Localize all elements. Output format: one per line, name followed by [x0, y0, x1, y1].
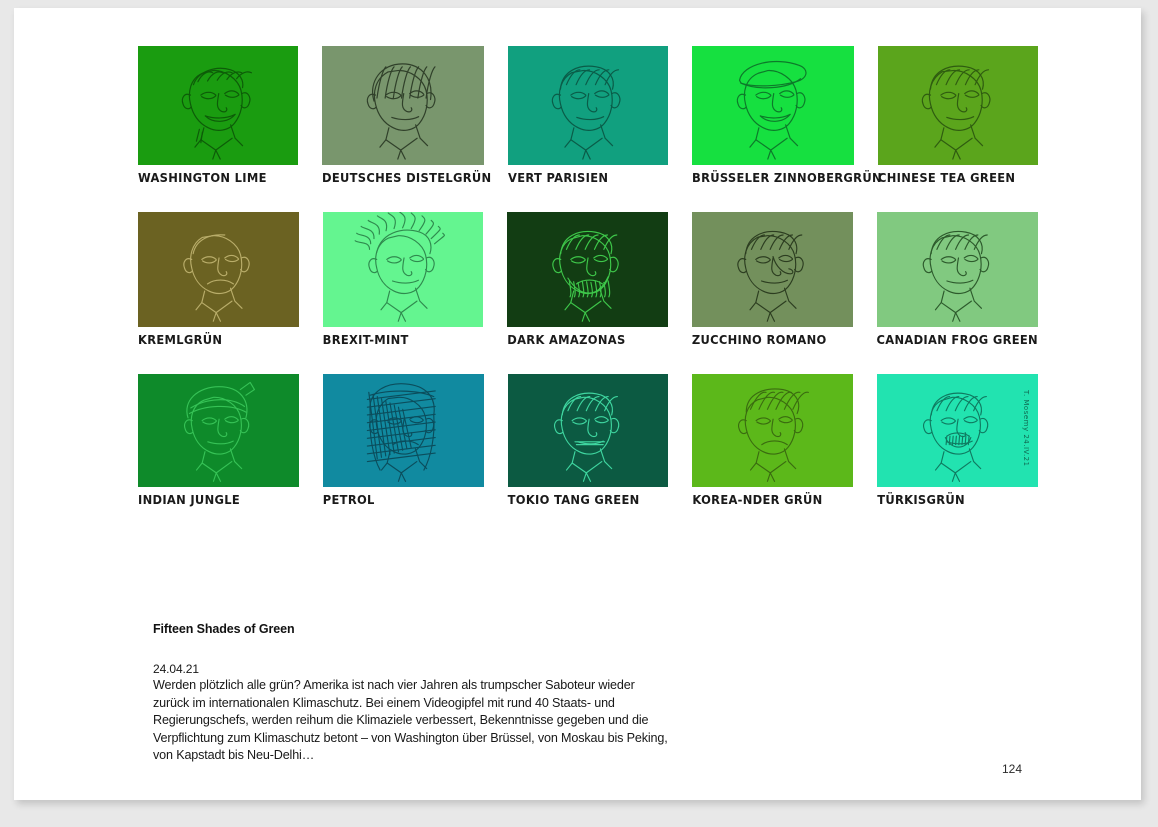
swatch-cell[interactable]: TOKIO TANG GREEN — [508, 374, 669, 506]
swatch-chip-messy-hair-man[interactable] — [323, 212, 484, 327]
swatch-label: BREXIT-MINT — [323, 332, 484, 347]
swatch-row: WASHINGTON LIMEDEUTSCHES DISTELGRÜNVERT … — [138, 46, 1038, 184]
swatch-label: CANADIAN FROG GREEN — [877, 332, 1038, 347]
swatch-row: INDIAN JUNGLEPETROLTOKIO TANG GREENKOREA… — [138, 374, 1038, 506]
swatch-label: ZUCCHINO ROMANO — [692, 332, 853, 347]
swatch-cell[interactable]: PETROL — [323, 374, 484, 506]
swatch-chip-keffiyeh-man[interactable] — [323, 374, 484, 487]
swatch-cell[interactable]: DEUTSCHES DISTELGRÜN — [322, 46, 484, 184]
swatch-chip-turban-man[interactable] — [138, 374, 299, 487]
swatch-cell[interactable]: KREMLGRÜN — [138, 212, 299, 346]
swatch-chip-elder-man[interactable] — [508, 374, 669, 487]
swatch-label: INDIAN JUNGLE — [138, 492, 299, 507]
swatch-chip-woman-bob-hair[interactable] — [322, 46, 484, 165]
swatch-label: VERT PARISIEN — [508, 170, 668, 185]
swatch-chip-wavy-hair-man[interactable] — [877, 212, 1038, 327]
swatch-cell[interactable]: BREXIT-MINT — [323, 212, 484, 346]
swatch-chip-bald-stern-man[interactable] — [138, 212, 299, 327]
screenshot-viewport: WASHINGTON LIMEDEUTSCHES DISTELGRÜNVERT … — [0, 0, 1158, 827]
swatch-label: KREMLGRÜN — [138, 332, 299, 347]
swatch-cell[interactable]: CANADIAN FROG GREEN — [877, 212, 1038, 346]
swatch-cell[interactable]: DARK AMAZONAS — [507, 212, 668, 346]
caption-body: Werden plötzlich alle grün? Amerika ist … — [153, 677, 673, 765]
swatch-label: KOREA-NDER GRÜN — [692, 492, 853, 507]
caption-block: Fifteen Shades of Green 24.04.21 Werden … — [153, 622, 683, 765]
swatch-chip-round-face-man[interactable] — [878, 46, 1038, 165]
swatch-cell[interactable]: T. Mosemy 24.IV.21TÜRKISGRÜN — [877, 374, 1038, 506]
caption-date: 24.04.21 — [153, 662, 683, 676]
swatch-label: DEUTSCHES DISTELGRÜN — [322, 170, 484, 185]
swatch-chip-smiling-man-swept-hair[interactable] — [138, 46, 298, 165]
swatch-chip-long-nose-man[interactable] — [692, 212, 853, 327]
swatch-chip-man-slicked-back-hair[interactable] — [508, 46, 668, 165]
swatch-cell[interactable]: BRÜSSELER ZINNOBERGRÜN — [692, 46, 854, 184]
swatch-label: TÜRKISGRÜN — [877, 492, 1038, 507]
swatch-cell[interactable]: ZUCCHINO ROMANO — [692, 212, 853, 346]
color-swatch-grid: WASHINGTON LIMEDEUTSCHES DISTELGRÜNVERT … — [138, 46, 1038, 534]
swatch-label: DARK AMAZONAS — [507, 332, 668, 347]
swatch-chip-bearded-man[interactable] — [507, 212, 668, 327]
swatch-label: WASHINGTON LIME — [138, 170, 298, 185]
swatch-cell[interactable]: INDIAN JUNGLE — [138, 374, 299, 506]
swatch-chip-pompadour-man[interactable] — [692, 374, 853, 487]
swatch-cell[interactable]: KOREA-NDER GRÜN — [692, 374, 853, 506]
artist-signature: T. Mosemy 24.IV.21 — [1022, 390, 1030, 467]
swatch-label: PETROL — [323, 492, 484, 507]
document-page: WASHINGTON LIMEDEUTSCHES DISTELGRÜNVERT … — [14, 8, 1141, 800]
swatch-label: TOKIO TANG GREEN — [508, 492, 669, 507]
swatch-label: CHINESE TEA GREEN — [878, 170, 1038, 185]
swatch-cell[interactable]: VERT PARISIEN — [508, 46, 668, 184]
swatch-label: BRÜSSELER ZINNOBERGRÜN — [692, 170, 854, 185]
caption-title: Fifteen Shades of Green — [153, 622, 683, 636]
swatch-chip-mustache-man[interactable]: T. Mosemy 24.IV.21 — [877, 374, 1038, 487]
swatch-cell[interactable]: WASHINGTON LIME — [138, 46, 298, 184]
page-number: 124 — [14, 762, 1022, 776]
swatch-chip-man-with-cap[interactable] — [692, 46, 854, 165]
swatch-cell[interactable]: CHINESE TEA GREEN — [878, 46, 1038, 184]
swatch-row: KREMLGRÜNBREXIT-MINTDARK AMAZONASZUCCHIN… — [138, 212, 1038, 346]
